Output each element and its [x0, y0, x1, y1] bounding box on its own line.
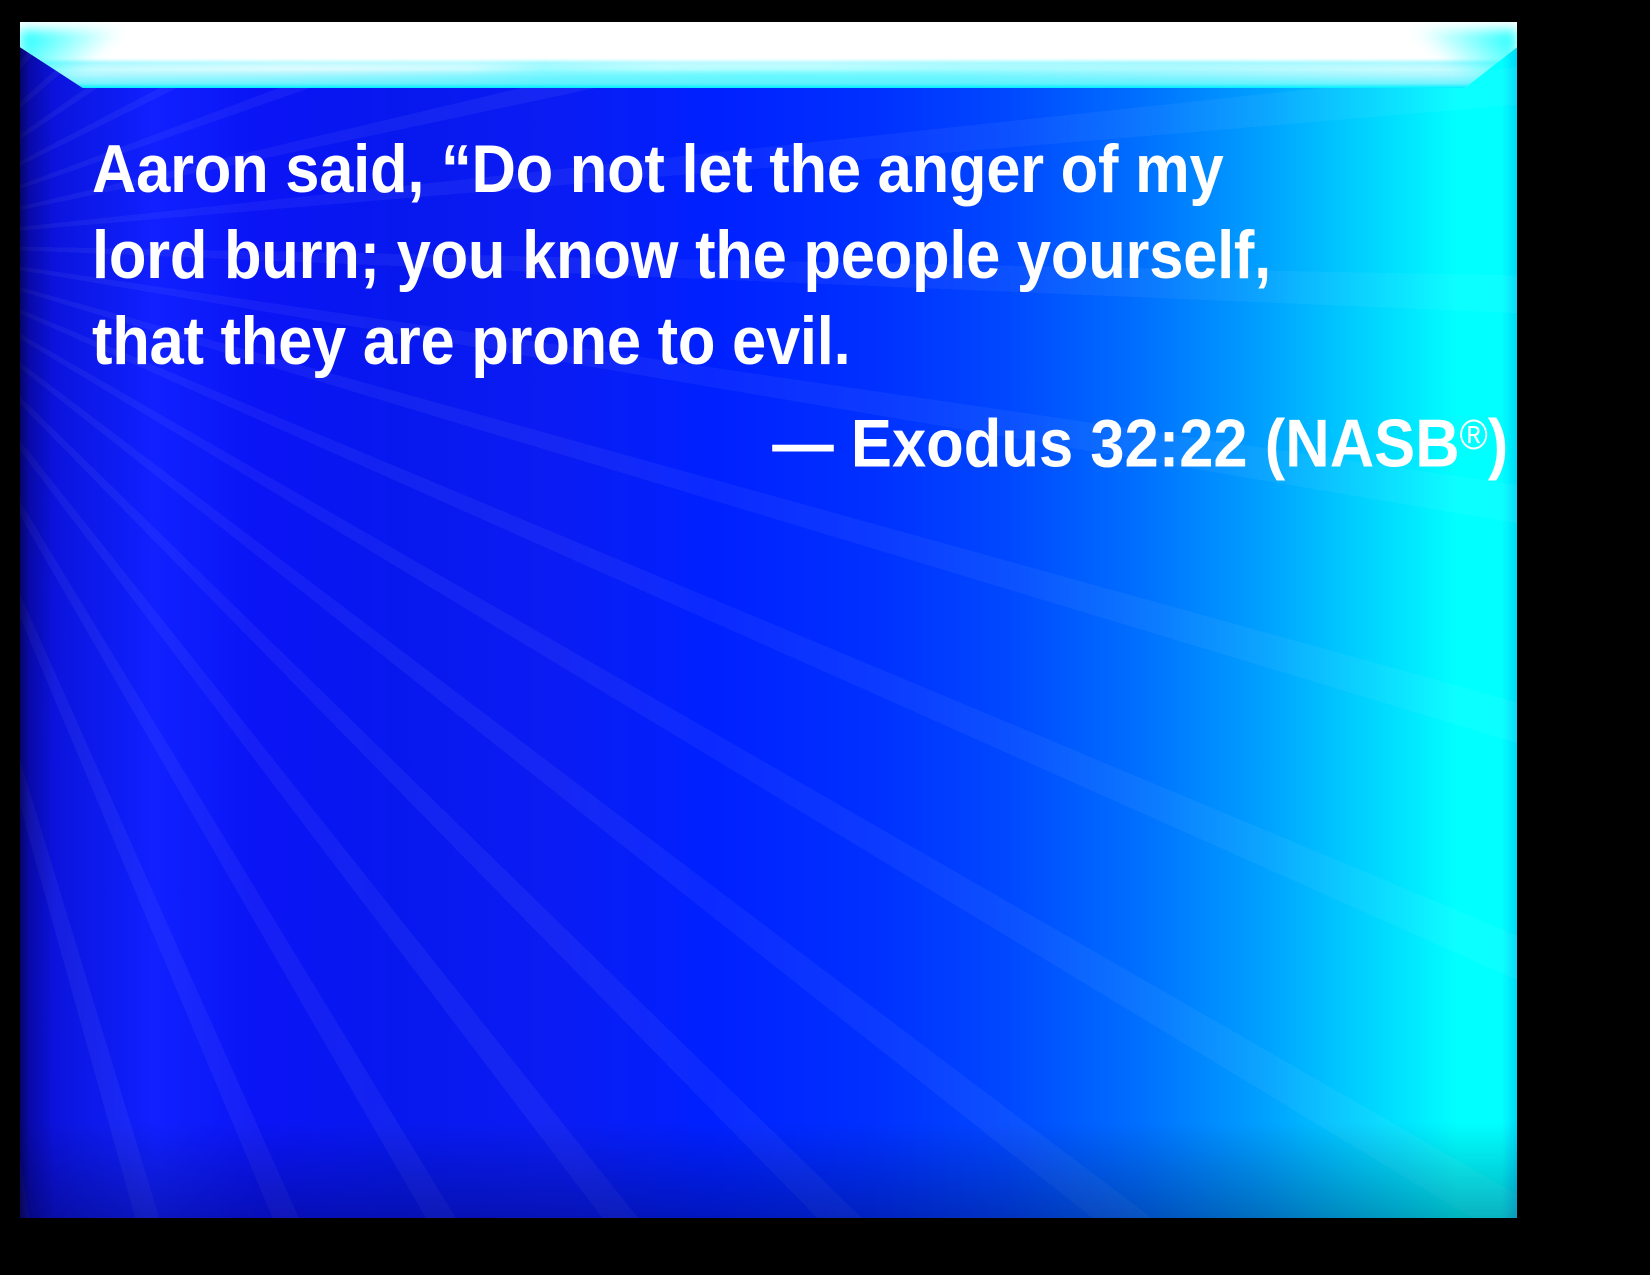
attribution-close-paren: ) [1487, 406, 1508, 482]
slide-panel: Aaron said, “Do not let the anger of my … [20, 22, 1517, 1218]
attribution-open-paren: ( [1247, 406, 1285, 482]
attribution-citation: — Exodus 32:22 [772, 406, 1247, 482]
registered-trademark-icon: ® [1459, 411, 1487, 458]
verse-line-3: that they are prone to evil. [92, 298, 1377, 384]
attribution-text: — Exodus 32:22 (NASB®) [772, 392, 1508, 487]
verse-attribution: — Exodus 32:22 (NASB®) [92, 392, 1512, 487]
attribution-version: NASB [1285, 406, 1459, 482]
verse-line-2: lord burn; you know the people yourself, [92, 212, 1377, 298]
header-band [20, 22, 1517, 88]
verse-line-1: Aaron said, “Do not let the anger of my [92, 126, 1377, 212]
verse-text-block: Aaron said, “Do not let the anger of my … [92, 126, 1512, 487]
verse-slide: Aaron said, “Do not let the anger of my … [0, 0, 1650, 1275]
